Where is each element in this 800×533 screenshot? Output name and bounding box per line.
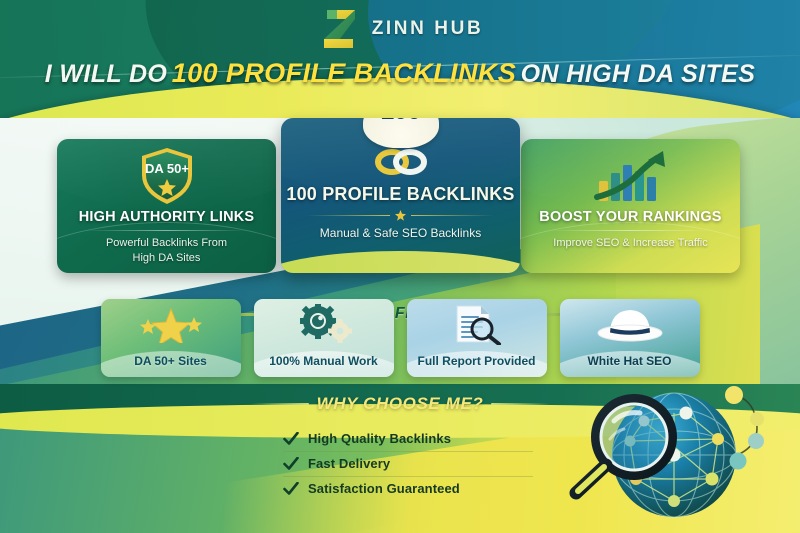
divider-line-left bbox=[307, 215, 390, 216]
chain-link-icon bbox=[369, 142, 433, 182]
card-subtitle-line1: Powerful Backlinks From bbox=[106, 236, 227, 251]
card-subtitle-line2: High DA Sites bbox=[106, 251, 227, 266]
card-boost-rankings[interactable]: BOOST YOUR RANKINGS Improve SEO & Increa… bbox=[521, 139, 740, 273]
brand-logo: ZINN HUB bbox=[0, 6, 800, 52]
poster-canvas: ZINN HUB I WILL DO 100 PROFILE BACKLINKS… bbox=[0, 0, 800, 533]
feature-label: White Hat SEO bbox=[587, 354, 671, 377]
card-divider bbox=[85, 230, 247, 231]
check-icon bbox=[283, 482, 299, 496]
check-icon bbox=[283, 457, 299, 471]
document-magnifier-icon bbox=[407, 304, 547, 344]
star-icon bbox=[395, 210, 406, 221]
card-divider bbox=[549, 230, 711, 231]
letter-z-logo-icon bbox=[317, 6, 363, 52]
benefits-checklist: High Quality Backlinks Fast Delivery Sat… bbox=[283, 427, 533, 501]
brand-name: ZINN HUB bbox=[372, 18, 484, 40]
network-globe-magnifier-icon bbox=[566, 383, 796, 533]
section-title: WHY CHOOSE ME? bbox=[317, 394, 484, 414]
shield-icon: DA 50+ bbox=[136, 145, 198, 207]
card-subtitle: Manual & Safe SEO Backlinks bbox=[306, 225, 495, 241]
card-title: HIGH AUTHORITY LINKS bbox=[79, 209, 255, 225]
feature-label: 100% Manual Work bbox=[269, 354, 377, 377]
white-hat-icon bbox=[560, 304, 700, 344]
card-profile-backlinks[interactable]: 100 100 PROFILE BACKLINKS bbox=[281, 118, 520, 273]
list-item: Fast Delivery bbox=[283, 452, 533, 477]
gears-icon bbox=[254, 304, 394, 344]
headline-part1: I WILL DO bbox=[45, 60, 168, 88]
card-high-authority-links[interactable]: DA 50+ HIGH AUTHORITY LINKS Powerful Bac… bbox=[57, 139, 276, 273]
headline-highlight: 100 PROFILE BACKLINKS bbox=[172, 58, 516, 88]
card-bottom-swoosh bbox=[281, 251, 520, 273]
feature-cards: DA 50+ HIGH AUTHORITY LINKS Powerful Bac… bbox=[0, 131, 800, 279]
feature-label: DA 50+ Sites bbox=[134, 354, 207, 377]
checklist-label: High Quality Backlinks bbox=[308, 431, 451, 446]
headline-part2: ON HIGH DA SITES bbox=[521, 60, 756, 88]
list-item: Satisfaction Guaranteed bbox=[283, 477, 533, 501]
list-item: High Quality Backlinks bbox=[283, 427, 533, 452]
service-feature-tiles: DA 50+ Sites bbox=[0, 299, 800, 379]
band-line-left bbox=[251, 403, 309, 405]
card-title: BOOST YOUR RANKINGS bbox=[539, 209, 721, 225]
feature-tile-manual-work[interactable]: 100% Manual Work bbox=[254, 299, 394, 377]
svg-text:DA 50+: DA 50+ bbox=[145, 161, 189, 176]
card-subtitle: Improve SEO & Increase Traffic bbox=[539, 236, 721, 251]
band-line-right bbox=[491, 403, 549, 405]
check-icon bbox=[283, 432, 299, 446]
feature-tile-full-report[interactable]: Full Report Provided bbox=[407, 299, 547, 377]
card-divider-star bbox=[307, 210, 493, 220]
feature-tile-white-hat-seo[interactable]: White Hat SEO bbox=[560, 299, 700, 377]
feature-tile-da-50-sites[interactable]: DA 50+ Sites bbox=[101, 299, 241, 377]
growth-chart-icon bbox=[583, 145, 679, 207]
checklist-label: Satisfaction Guaranteed bbox=[308, 481, 460, 496]
checklist-label: Fast Delivery bbox=[308, 456, 390, 471]
card-subtitle: Powerful Backlinks From High DA Sites bbox=[92, 236, 241, 266]
count-badge-value: 100 bbox=[380, 118, 420, 124]
page-title: I WILL DO 100 PROFILE BACKLINKS ON HIGH … bbox=[0, 58, 800, 89]
card-title: 100 PROFILE BACKLINKS bbox=[286, 184, 514, 205]
stars-icon bbox=[101, 304, 241, 344]
feature-label: Full Report Provided bbox=[417, 354, 535, 377]
divider-line-right bbox=[411, 215, 494, 216]
